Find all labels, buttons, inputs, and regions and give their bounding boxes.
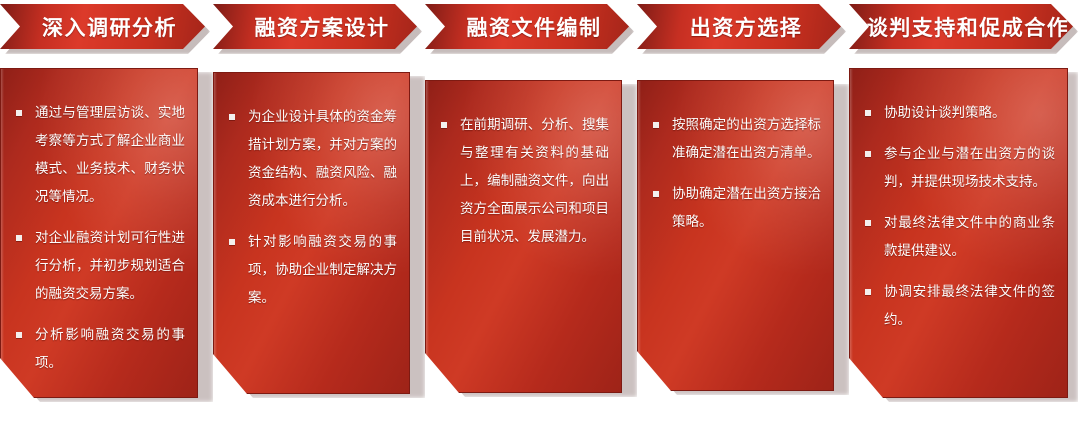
list-item: 对最终法律文件中的商业条款提供建议。 bbox=[864, 209, 1055, 265]
list-item: 在前期调研、分析、搜集与整理有关资料的基础上，编制融资文件，向出资方全面展示公司… bbox=[440, 111, 609, 251]
stage-panel-3: 在前期调研、分析、搜集与整理有关资料的基础上，编制融资文件，向出资方全面展示公司… bbox=[425, 80, 622, 393]
bullet-square-icon bbox=[653, 122, 659, 128]
bullet-text: 针对影响融资交易的事项，协助企业制定解决方案。 bbox=[248, 234, 397, 306]
bullet-text: 对企业融资计划可行性进行分析，并初步规划适合的融资交易方案。 bbox=[35, 230, 185, 302]
stage-column-5: 谈判支持和促成合作 协助设计谈判策略。 参与企业与潜在出资方的谈判，并提供现场技… bbox=[849, 0, 1078, 422]
list-item: 按照确定的出资方选择标准确定潜在出资方清单。 bbox=[652, 111, 821, 167]
list-item: 为企业设计具体的资金筹措计划方案，并对方案的资金结构、融资风险、融资成本进行分析… bbox=[228, 103, 397, 215]
stage-panel-1: 通过与管理层访谈、实地考察等方式了解企业商业模式、业务技术、财务状况等情况。 对… bbox=[0, 68, 198, 398]
list-item: 协调安排最终法律文件的签约。 bbox=[864, 278, 1055, 334]
bullet-text: 协助设计谈判策略。 bbox=[884, 105, 1006, 121]
stage-header-label-2: 融资方案设计 bbox=[241, 12, 390, 42]
stage-column-3: 融资文件编制 在前期调研、分析、搜集与整理有关资料的基础上，编制融资文件，向出资… bbox=[425, 0, 637, 422]
bullet-square-icon bbox=[865, 289, 871, 295]
list-item: 分析影响融资交易的事项。 bbox=[15, 321, 185, 377]
stage-header-3[interactable]: 融资文件编制 bbox=[425, 4, 629, 49]
bullet-square-icon bbox=[16, 332, 22, 338]
list-item: 参与企业与潜在出资方的谈判，并提供现场技术支持。 bbox=[864, 140, 1055, 196]
bullet-square-icon bbox=[865, 220, 871, 226]
bullet-text: 按照确定的出资方选择标准确定潜在出资方清单。 bbox=[672, 117, 821, 161]
bullet-square-icon bbox=[229, 114, 235, 120]
stage-bullet-list-4: 按照确定的出资方选择标准确定潜在出资方清单。 协助确定潜在出资方接洽策略。 bbox=[652, 111, 821, 236]
stage-header-4[interactable]: 出资方选择 bbox=[637, 4, 841, 49]
bullet-text: 协助确定潜在出资方接洽策略。 bbox=[672, 186, 821, 230]
stage-header-1[interactable]: 深入调研分析 bbox=[0, 4, 205, 49]
stage-header-label-5: 谈判支持和促成合作 bbox=[853, 12, 1070, 42]
stage-bullet-list-2: 为企业设计具体的资金筹措计划方案，并对方案的资金结构、融资风险、融资成本进行分析… bbox=[228, 103, 397, 312]
stage-bullet-list-3: 在前期调研、分析、搜集与整理有关资料的基础上，编制融资文件，向出资方全面展示公司… bbox=[440, 111, 609, 251]
stage-column-1: 深入调研分析 通过与管理层访谈、实地考察等方式了解企业商业模式、业务技术、财务状… bbox=[0, 0, 213, 422]
bullet-text: 参与企业与潜在出资方的谈判，并提供现场技术支持。 bbox=[884, 146, 1055, 190]
bullet-square-icon bbox=[653, 191, 659, 197]
stage-bullet-list-1: 通过与管理层访谈、实地考察等方式了解企业商业模式、业务技术、财务状况等情况。 对… bbox=[15, 99, 185, 377]
stage-column-2: 融资方案设计 为企业设计具体的资金筹措计划方案，并对方案的资金结构、融资风险、融… bbox=[213, 0, 425, 422]
bullet-text: 在前期调研、分析、搜集与整理有关资料的基础上，编制融资文件，向出资方全面展示公司… bbox=[460, 117, 609, 245]
bullet-text: 通过与管理层访谈、实地考察等方式了解企业商业模式、业务技术、财务状况等情况。 bbox=[35, 105, 185, 205]
list-item: 针对影响融资交易的事项，协助企业制定解决方案。 bbox=[228, 228, 397, 312]
stage-panel-4: 按照确定的出资方选择标准确定潜在出资方清单。 协助确定潜在出资方接洽策略。 bbox=[637, 80, 834, 391]
list-item: 协助确定潜在出资方接洽策略。 bbox=[652, 180, 821, 236]
list-item: 协助设计谈判策略。 bbox=[864, 99, 1055, 127]
bullet-text: 为企业设计具体的资金筹措计划方案，并对方案的资金结构、融资风险、融资成本进行分析… bbox=[248, 109, 397, 209]
process-flow-diagram: 深入调研分析 通过与管理层访谈、实地考察等方式了解企业商业模式、业务技术、财务状… bbox=[0, 0, 1078, 422]
stage-header-2[interactable]: 融资方案设计 bbox=[213, 4, 417, 49]
bullet-square-icon bbox=[16, 110, 22, 116]
bullet-square-icon bbox=[865, 110, 871, 116]
list-item: 通过与管理层访谈、实地考察等方式了解企业商业模式、业务技术、财务状况等情况。 bbox=[15, 99, 185, 211]
stage-bullet-list-5: 协助设计谈判策略。 参与企业与潜在出资方的谈判，并提供现场技术支持。 对最终法律… bbox=[864, 99, 1055, 334]
stage-header-label-1: 深入调研分析 bbox=[28, 12, 177, 42]
stage-column-4: 出资方选择 按照确定的出资方选择标准确定潜在出资方清单。 协助确定潜在出资方接洽… bbox=[637, 0, 849, 422]
stage-header-5[interactable]: 谈判支持和促成合作 bbox=[849, 4, 1073, 49]
bullet-text: 对最终法律文件中的商业条款提供建议。 bbox=[884, 215, 1055, 259]
bullet-text: 分析影响融资交易的事项。 bbox=[35, 327, 185, 371]
bullet-square-icon bbox=[441, 122, 447, 128]
stage-panel-2: 为企业设计具体的资金筹措计划方案，并对方案的资金结构、融资风险、融资成本进行分析… bbox=[213, 72, 410, 394]
stage-header-label-3: 融资文件编制 bbox=[453, 12, 602, 42]
list-item: 对企业融资计划可行性进行分析，并初步规划适合的融资交易方案。 bbox=[15, 224, 185, 308]
stage-panel-5: 协助设计谈判策略。 参与企业与潜在出资方的谈判，并提供现场技术支持。 对最终法律… bbox=[849, 68, 1068, 398]
bullet-text: 协调安排最终法律文件的签约。 bbox=[884, 284, 1055, 328]
bullet-square-icon bbox=[865, 151, 871, 157]
stage-header-label-4: 出资方选择 bbox=[676, 12, 803, 42]
bullet-square-icon bbox=[229, 239, 235, 245]
bullet-square-icon bbox=[16, 235, 22, 241]
